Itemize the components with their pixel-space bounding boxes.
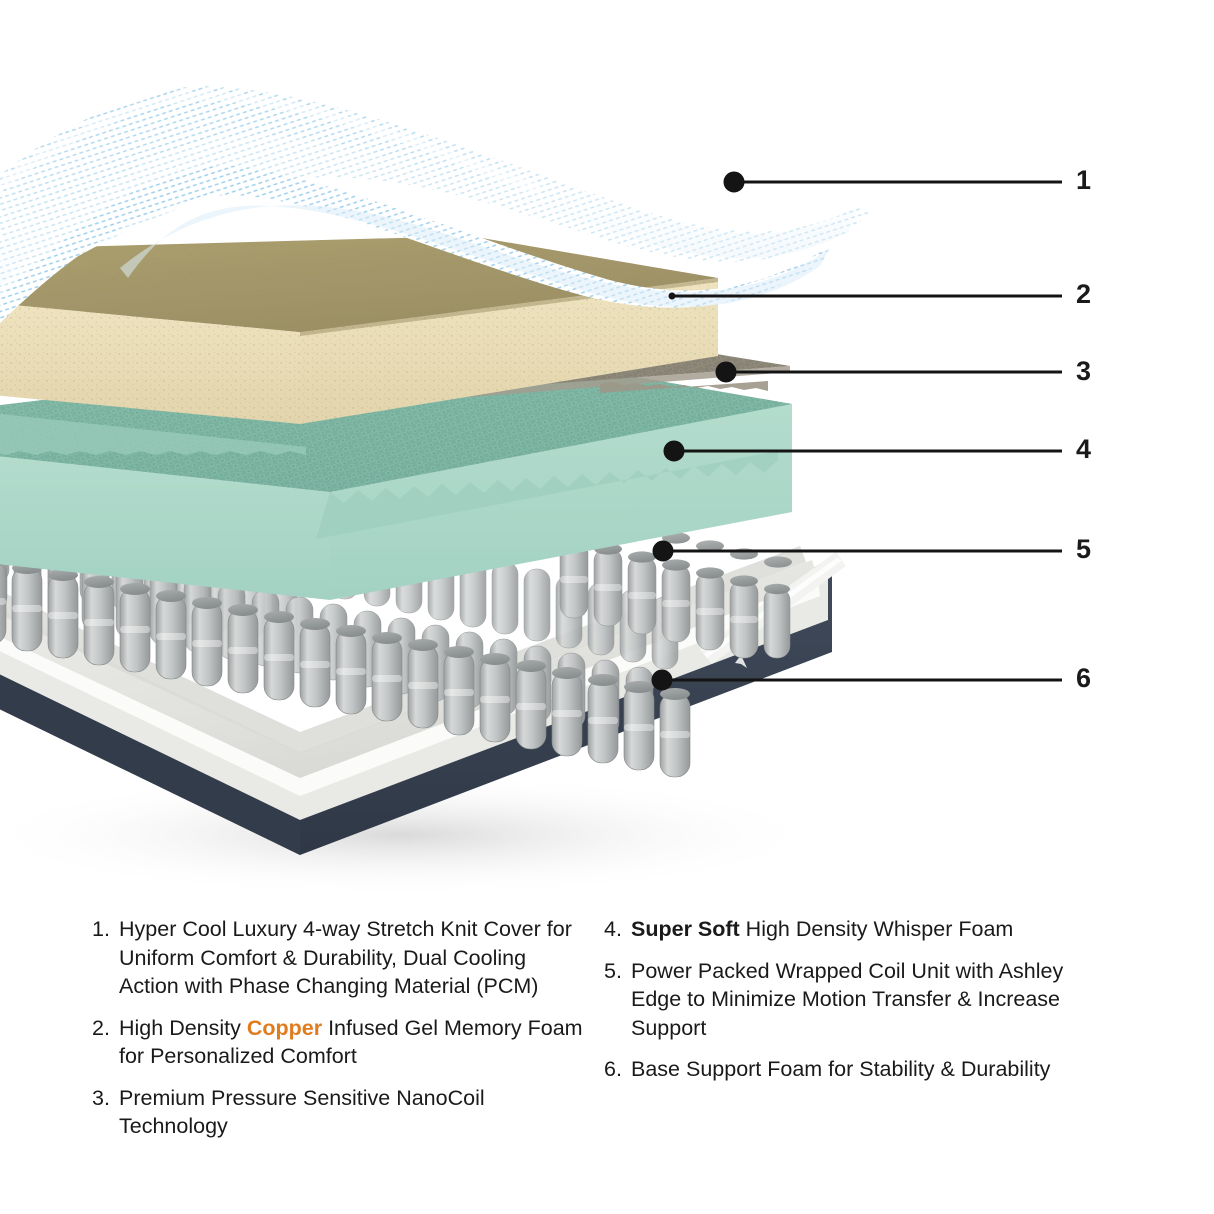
- legend-column-right: 4. Super Soft High Density Whisper Foam …: [604, 915, 1114, 1097]
- legend-text-5: Power Packed Wrapped Coil Unit with Ashl…: [631, 957, 1114, 1043]
- legend-index-5: 5.: [604, 957, 631, 986]
- callout-number-5: 5: [1076, 536, 1091, 563]
- legend-index-4: 4.: [604, 915, 631, 944]
- legend-text-3: Premium Pressure Sensitive NanoCoil Tech…: [119, 1084, 587, 1141]
- legend-item-5: 5. Power Packed Wrapped Coil Unit with A…: [604, 957, 1114, 1043]
- legend-text-2: High Density Copper Infused Gel Memory F…: [119, 1014, 587, 1071]
- callout-number-group: 1 2 3 4 5 6: [0, 0, 1214, 900]
- legend-item-6: 6. Base Support Foam for Stability & Dur…: [604, 1055, 1114, 1084]
- legend-column-left: 1. Hyper Cool Luxury 4-way Stretch Knit …: [92, 915, 587, 1154]
- callout-number-1: 1: [1076, 167, 1091, 194]
- callout-number-6: 6: [1076, 665, 1091, 692]
- mattress-construction-diagram: 1 2 3 4 5 6 1. Hyper Cool Luxury 4-way S…: [0, 0, 1214, 1214]
- legend-item-4: 4. Super Soft High Density Whisper Foam: [604, 915, 1114, 944]
- legend-item-1: 1. Hyper Cool Luxury 4-way Stretch Knit …: [92, 915, 587, 1001]
- legend-index-1: 1.: [92, 915, 119, 944]
- callout-number-3: 3: [1076, 358, 1091, 385]
- legend-item-2: 2. High Density Copper Infused Gel Memor…: [92, 1014, 587, 1071]
- callout-number-2: 2: [1076, 281, 1091, 308]
- legend-text-1: Hyper Cool Luxury 4-way Stretch Knit Cov…: [119, 915, 587, 1001]
- legend-index-3: 3.: [92, 1084, 119, 1113]
- callout-number-4: 4: [1076, 436, 1091, 463]
- legend-index-6: 6.: [604, 1055, 631, 1084]
- legend-index-2: 2.: [92, 1014, 119, 1043]
- legend-text-4: Super Soft High Density Whisper Foam: [631, 915, 1114, 944]
- legend-text-6: Base Support Foam for Stability & Durabi…: [631, 1055, 1114, 1084]
- feature-legend: 1. Hyper Cool Luxury 4-way Stretch Knit …: [0, 915, 1214, 1195]
- legend-item-3: 3. Premium Pressure Sensitive NanoCoil T…: [92, 1084, 587, 1141]
